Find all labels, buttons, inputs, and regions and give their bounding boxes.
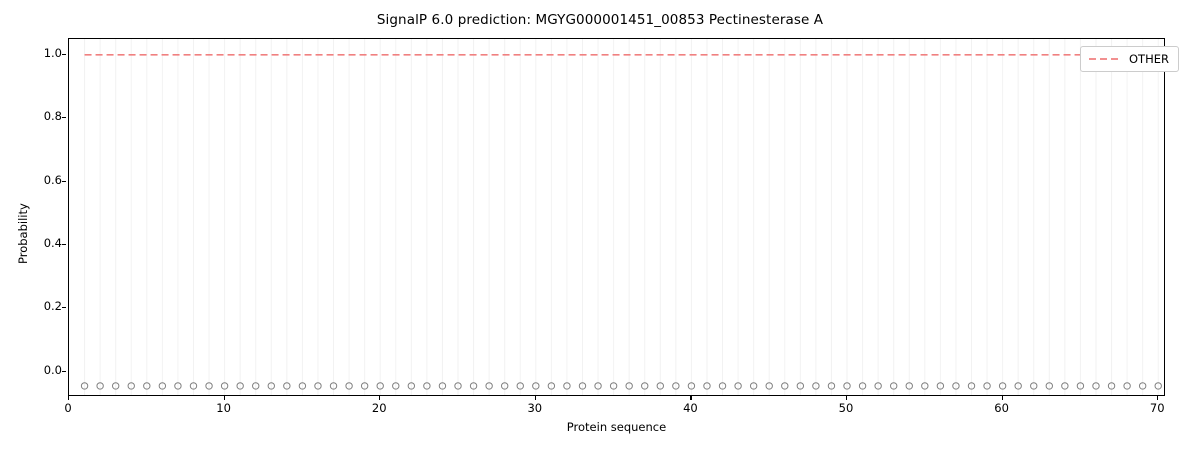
y-tick-mark (62, 54, 66, 55)
y-tick-mark (62, 117, 66, 118)
chart-title: SignalP 6.0 prediction: MGYG000001451_00… (0, 12, 1200, 28)
y-tick-label: 0.0 (28, 363, 62, 377)
x-tick-label: 70 (1150, 401, 1165, 415)
y-tick-label: 1.0 (28, 46, 62, 60)
legend: OTHER (1080, 46, 1179, 72)
x-tick-mark (846, 396, 847, 400)
y-tick-mark (62, 244, 66, 245)
x-tick-label: 10 (216, 401, 231, 415)
x-axis-label: Protein sequence (68, 420, 1165, 434)
x-tick-mark (68, 396, 69, 400)
x-tick-mark (379, 396, 380, 400)
y-tick-label: 0.4 (28, 236, 62, 250)
x-tick-label: 20 (372, 401, 387, 415)
y-tick-label: 0.2 (28, 299, 62, 313)
x-tick-mark (224, 396, 225, 400)
x-tick-mark (690, 396, 691, 400)
y-axis-ticks: 0.00.20.40.60.81.0 (26, 38, 62, 396)
y-tick-mark (62, 371, 66, 372)
x-tick-label: 50 (839, 401, 854, 415)
legend-line-swatch (1088, 54, 1122, 64)
signalp-prediction-figure: SignalP 6.0 prediction: MGYG000001451_00… (0, 0, 1200, 450)
y-tick-label: 0.6 (28, 173, 62, 187)
x-tick-label: 60 (994, 401, 1009, 415)
x-tick-mark (1157, 396, 1158, 400)
x-tick-label: 30 (527, 401, 542, 415)
x-tick-mark (535, 396, 536, 400)
plot-area: MILVGASSFCHFRTIQGAVDFLEQTASGEQETICILPGIY… (68, 38, 1165, 396)
legend-label-other: OTHER (1129, 52, 1169, 66)
x-axis-ticks: 010203040506070 (68, 396, 1165, 418)
residue-letters: MILVGASSFCHFRTIQGAVDFLEQTASGEQETICILPGIY… (69, 39, 1164, 395)
x-tick-label: 0 (64, 401, 71, 415)
y-tick-mark (62, 307, 66, 308)
y-tick-label: 0.8 (28, 109, 62, 123)
x-tick-label: 40 (683, 401, 698, 415)
x-tick-mark (1002, 396, 1003, 400)
y-tick-mark (62, 181, 66, 182)
